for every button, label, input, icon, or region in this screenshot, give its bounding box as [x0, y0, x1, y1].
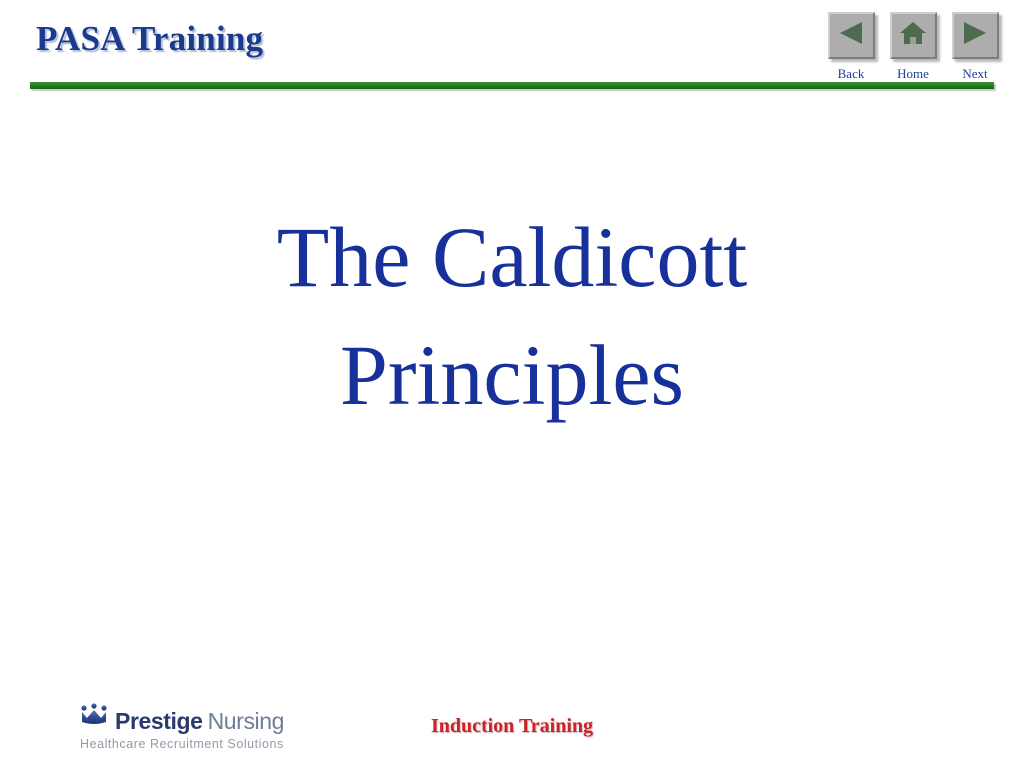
- house-icon: [898, 19, 928, 52]
- back-label: Back: [838, 67, 865, 81]
- home-label: Home: [897, 67, 929, 81]
- logo-word-prestige: Prestige: [115, 709, 203, 734]
- slide-title: The Caldicott Principles: [112, 198, 912, 434]
- nav-item-home[interactable]: Home: [886, 12, 940, 81]
- next-button[interactable]: [952, 12, 999, 59]
- prestige-nursing-logo: Prestige Nursing Healthcare Recruitment …: [80, 706, 300, 752]
- home-button[interactable]: [890, 12, 937, 59]
- slide-title-line-1: The Caldicott: [112, 198, 912, 316]
- triangle-left-icon: [837, 20, 865, 51]
- deck-title: PASA Training: [36, 18, 263, 60]
- slide-title-line-2: Principles: [112, 316, 912, 434]
- logo-tagline: Healthcare Recruitment Solutions: [80, 737, 300, 752]
- logo-wordmark: Prestige Nursing: [80, 706, 300, 734]
- header-divider-rule: [30, 82, 994, 89]
- navigation-bar: Back Home: [824, 12, 1002, 81]
- slide-header: PASA Training Back: [0, 0, 1024, 100]
- nav-item-next[interactable]: Next: [948, 12, 1002, 81]
- triangle-right-icon: [961, 20, 989, 51]
- crown-icon: [80, 703, 110, 732]
- next-label: Next: [962, 67, 987, 81]
- nav-item-back[interactable]: Back: [824, 12, 878, 81]
- back-button[interactable]: [828, 12, 875, 59]
- logo-word-nursing: Nursing: [208, 709, 284, 734]
